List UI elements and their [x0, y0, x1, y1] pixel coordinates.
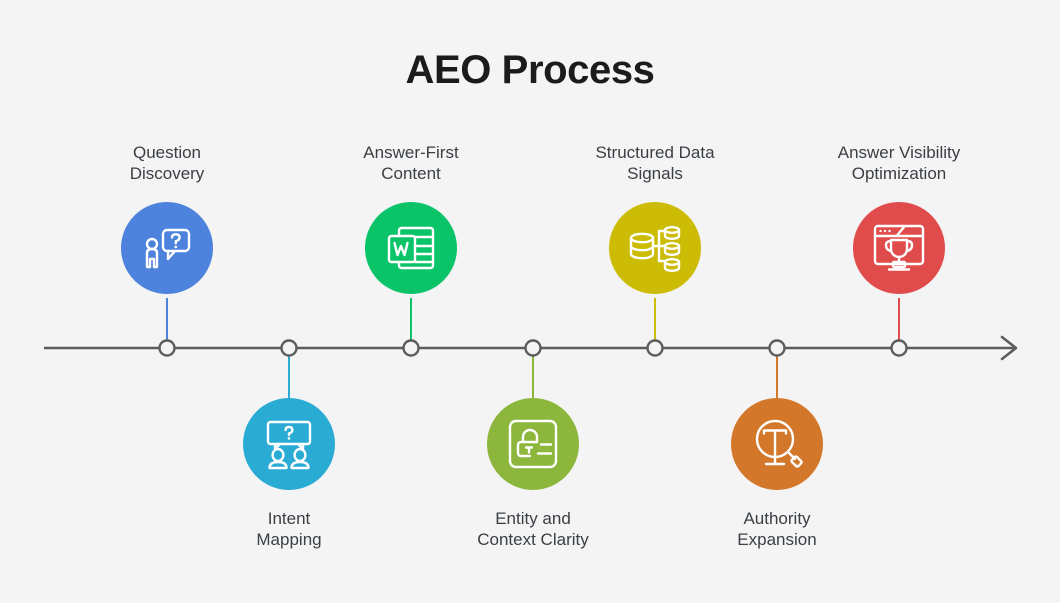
- browser-trophy-icon[interactable]: [853, 202, 945, 294]
- person-question-bubble-icon[interactable]: [121, 202, 213, 294]
- timeline-step-label: Answer-First Content: [311, 142, 511, 184]
- database-branch-icon[interactable]: [609, 202, 701, 294]
- timeline-step-2[interactable]: Intent Mapping: [189, 398, 389, 550]
- timeline-step-label: Entity and Context Clarity: [433, 508, 633, 550]
- word-document-icon[interactable]: [365, 202, 457, 294]
- timeline-step-label: Structured Data Signals: [555, 142, 755, 184]
- timeline-step-1[interactable]: Question Discovery: [67, 142, 267, 294]
- timeline-step-7[interactable]: Answer Visibility Optimization: [799, 142, 999, 294]
- timeline-step-3[interactable]: Answer-First Content: [311, 142, 511, 294]
- timeline-step-label: Answer Visibility Optimization: [799, 142, 999, 184]
- timeline-step-6[interactable]: Authority Expansion: [677, 398, 877, 550]
- timeline-step-4[interactable]: Entity and Context Clarity: [433, 398, 633, 550]
- timeline-step-label: Question Discovery: [67, 142, 267, 184]
- magnifier-authority-icon[interactable]: [731, 398, 823, 490]
- timeline-step-label: Authority Expansion: [677, 508, 877, 550]
- timeline-diagram: AEO Process Question Discovery Intent: [0, 0, 1060, 603]
- padlock-data-icon[interactable]: [487, 398, 579, 490]
- two-people-question-board-icon[interactable]: [243, 398, 335, 490]
- timeline-step-label: Intent Mapping: [189, 508, 389, 550]
- timeline-step-5[interactable]: Structured Data Signals: [555, 142, 755, 294]
- page-title: AEO Process: [0, 48, 1060, 93]
